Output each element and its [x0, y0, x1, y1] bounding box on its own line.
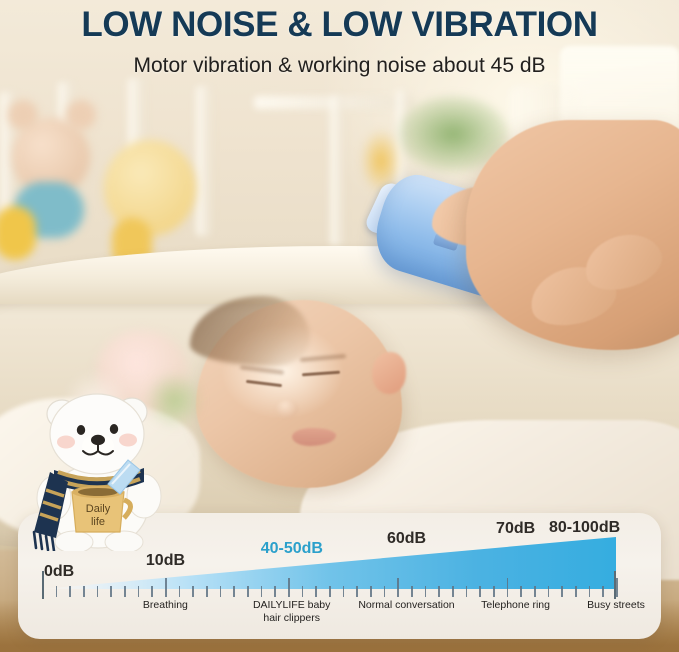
scale-caption: Busy streets — [587, 599, 645, 612]
scale-tick-minor — [302, 586, 304, 597]
scale-tick-minor — [151, 586, 153, 597]
scale-tick-minor — [138, 586, 140, 597]
db-value-label: 70dB — [496, 520, 535, 538]
scale-tick-minor — [466, 586, 468, 597]
scale-end-cap — [614, 571, 616, 599]
scale-tick-major — [397, 578, 399, 597]
scale-tick-minor — [192, 586, 194, 597]
scale-tick-minor — [56, 586, 58, 597]
scale-caption-line2: hair clippers — [244, 612, 340, 625]
scale-tick-minor — [261, 586, 263, 597]
scale-tick-minor — [384, 586, 386, 597]
scale-caption: DAILYLIFE babyhair clippers — [244, 599, 340, 625]
scale-ticks — [42, 575, 616, 597]
scale-tick-major — [165, 578, 167, 597]
scale-tick-major — [288, 578, 290, 597]
mug-label-line1: Daily — [86, 503, 111, 515]
scale-tick-minor — [561, 586, 563, 597]
product-feature-image: LOW NOISE & LOW VIBRATION Motor vibratio… — [0, 0, 679, 652]
scale-tick-minor — [602, 586, 604, 597]
baby-ear — [372, 352, 406, 394]
db-value-label: 40-50dB — [261, 540, 323, 558]
scale-tick-minor — [548, 586, 550, 597]
scale-tick-minor — [575, 586, 577, 597]
scale-tick-minor — [534, 586, 536, 597]
scale-tick-minor — [589, 586, 591, 597]
scale-tick-minor — [179, 586, 181, 597]
scale-tick-minor — [124, 586, 126, 597]
scale-tick-minor — [220, 586, 222, 597]
scale-tick-minor — [274, 586, 276, 597]
scale-tick-major — [507, 578, 509, 597]
scale-tick-minor — [233, 586, 235, 597]
scale-tick-minor — [438, 586, 440, 597]
db-value-label: 80-100dB — [549, 519, 620, 537]
mug-label-line2: life — [91, 516, 105, 528]
page-subtitle: Motor vibration & working noise about 45… — [0, 53, 679, 79]
scale-tick-minor — [452, 586, 454, 597]
scale-tick-minor — [370, 586, 372, 597]
scale-tick-minor — [69, 586, 71, 597]
scale-tick-minor — [411, 586, 413, 597]
scale-caption: Telephone ring — [481, 599, 550, 612]
scale-tick-minor — [247, 586, 249, 597]
polar-bear-mascot: Daily life — [28, 386, 178, 551]
db-value-label: 0dB — [44, 563, 74, 581]
scale-tick-minor — [110, 586, 112, 597]
scale-tick-minor — [329, 586, 331, 597]
scale-caption: Normal conversation — [358, 599, 454, 612]
scale-tick-minor — [315, 586, 317, 597]
scale-tick-minor — [520, 586, 522, 597]
scale-tick-minor — [356, 586, 358, 597]
db-value-label: 60dB — [387, 530, 426, 548]
scale-tick-minor — [479, 586, 481, 597]
scale-caption: Breathing — [143, 599, 188, 612]
page-title: LOW NOISE & LOW VIBRATION — [0, 4, 679, 46]
scale-tick-minor — [493, 586, 495, 597]
scale-tick-minor — [425, 586, 427, 597]
scale-tick-minor — [83, 586, 85, 597]
header: LOW NOISE & LOW VIBRATION Motor vibratio… — [0, 0, 679, 79]
db-value-label: 10dB — [146, 552, 185, 570]
scale-tick-minor — [97, 586, 99, 597]
scale-tick-minor — [206, 586, 208, 597]
scale-tick-minor — [343, 586, 345, 597]
yellow-plush-toy — [104, 140, 196, 236]
baby-nose — [276, 400, 298, 418]
scale-tick-major — [616, 578, 618, 597]
